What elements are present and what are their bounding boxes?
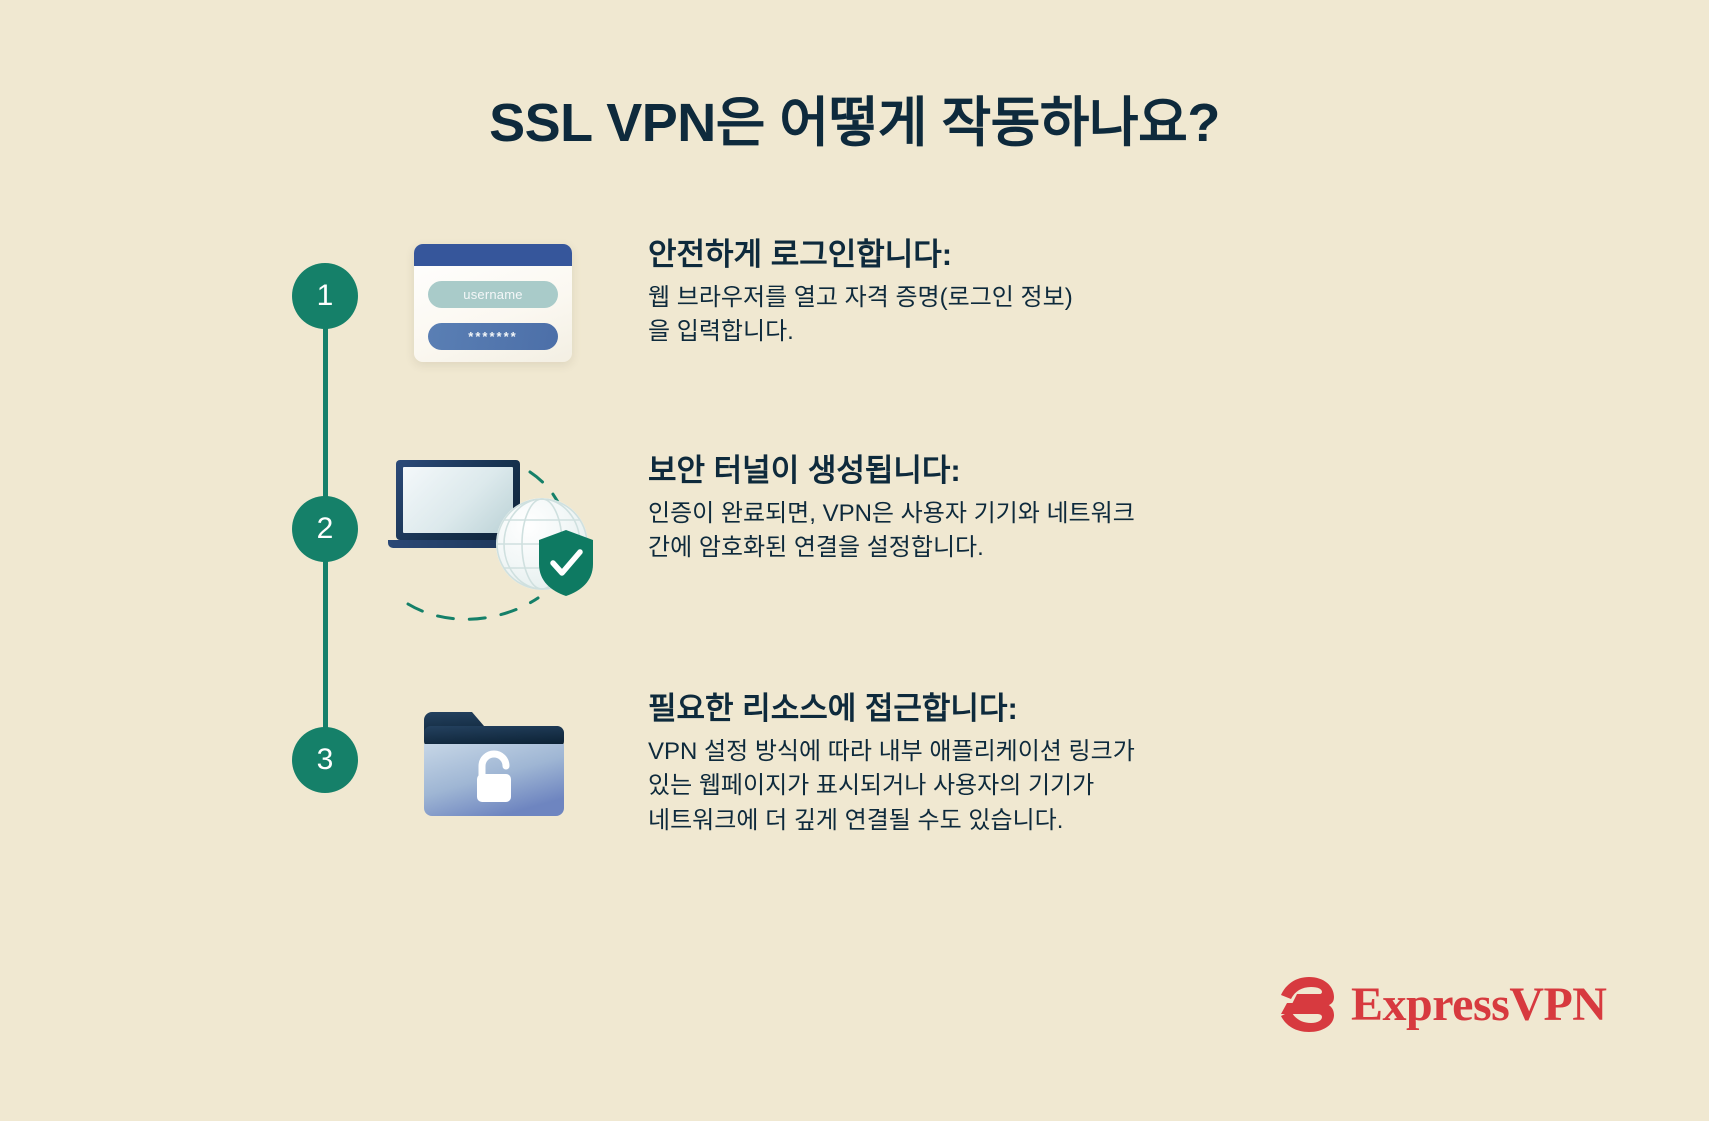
step-badge-1: 1 bbox=[292, 263, 358, 329]
step-body-3-line-2: 있는 웹페이지가 표시되거나 사용자의 기기가 bbox=[648, 769, 1288, 804]
step-body-2-line-2: 간에 암호화된 연결을 설정합니다. bbox=[648, 531, 1288, 566]
step-body-1-line-2: 을 입력합니다. bbox=[648, 315, 1288, 350]
folder-graphic bbox=[420, 704, 568, 820]
password-field: ******* bbox=[428, 323, 558, 350]
login-card-icon: username ******* bbox=[378, 236, 608, 416]
step-badge-2: 2 bbox=[292, 496, 358, 562]
shield-check-icon bbox=[536, 528, 596, 598]
expressvpn-e-mark-icon bbox=[1275, 975, 1337, 1033]
step-text-1: 안전하게 로그인합니다: 웹 브라우저를 열고 자격 증명(로그인 정보) 을 … bbox=[648, 236, 1288, 350]
expressvpn-logo: ExpressVPN bbox=[1275, 975, 1606, 1033]
step-text-3: 필요한 리소스에 접근합니다: VPN 설정 방식에 따라 내부 애플리케이션 … bbox=[648, 690, 1288, 838]
step-number-1: 1 bbox=[317, 279, 334, 313]
step-heading-3: 필요한 리소스에 접근합니다: bbox=[648, 690, 1288, 729]
step-badge-3: 3 bbox=[292, 727, 358, 793]
folder-unlocked-icon bbox=[378, 690, 608, 870]
laptop-shield-globe-icon bbox=[378, 452, 608, 632]
step-heading-2: 보안 터널이 생성됩니다: bbox=[648, 452, 1288, 491]
step-number-2: 2 bbox=[317, 512, 334, 546]
expressvpn-wordmark: ExpressVPN bbox=[1351, 977, 1606, 1032]
login-card-titlebar bbox=[414, 244, 572, 266]
step-body-3-line-3: 네트워크에 더 깊게 연결될 수도 있습니다. bbox=[648, 804, 1288, 839]
step-body-2-line-1: 인증이 완료되면, VPN은 사용자 기기와 네트워크 bbox=[648, 497, 1288, 532]
page-title: SSL VPN은 어떻게 작동하나요? bbox=[0, 78, 1709, 157]
step-text-2: 보안 터널이 생성됩니다: 인증이 완료되면, VPN은 사용자 기기와 네트워… bbox=[648, 452, 1288, 566]
infographic-page: SSL VPN은 어떻게 작동하나요? 1 2 3 username *****… bbox=[0, 0, 1709, 1121]
step-body-1-line-1: 웹 브라우저를 열고 자격 증명(로그인 정보) bbox=[648, 281, 1288, 316]
step-number-3: 3 bbox=[317, 743, 334, 777]
step-heading-1: 안전하게 로그인합니다: bbox=[648, 236, 1288, 275]
step-body-3-line-1: VPN 설정 방식에 따라 내부 애플리케이션 링크가 bbox=[648, 735, 1288, 770]
username-field: username bbox=[428, 281, 558, 308]
login-card-graphic: username ******* bbox=[414, 244, 572, 362]
